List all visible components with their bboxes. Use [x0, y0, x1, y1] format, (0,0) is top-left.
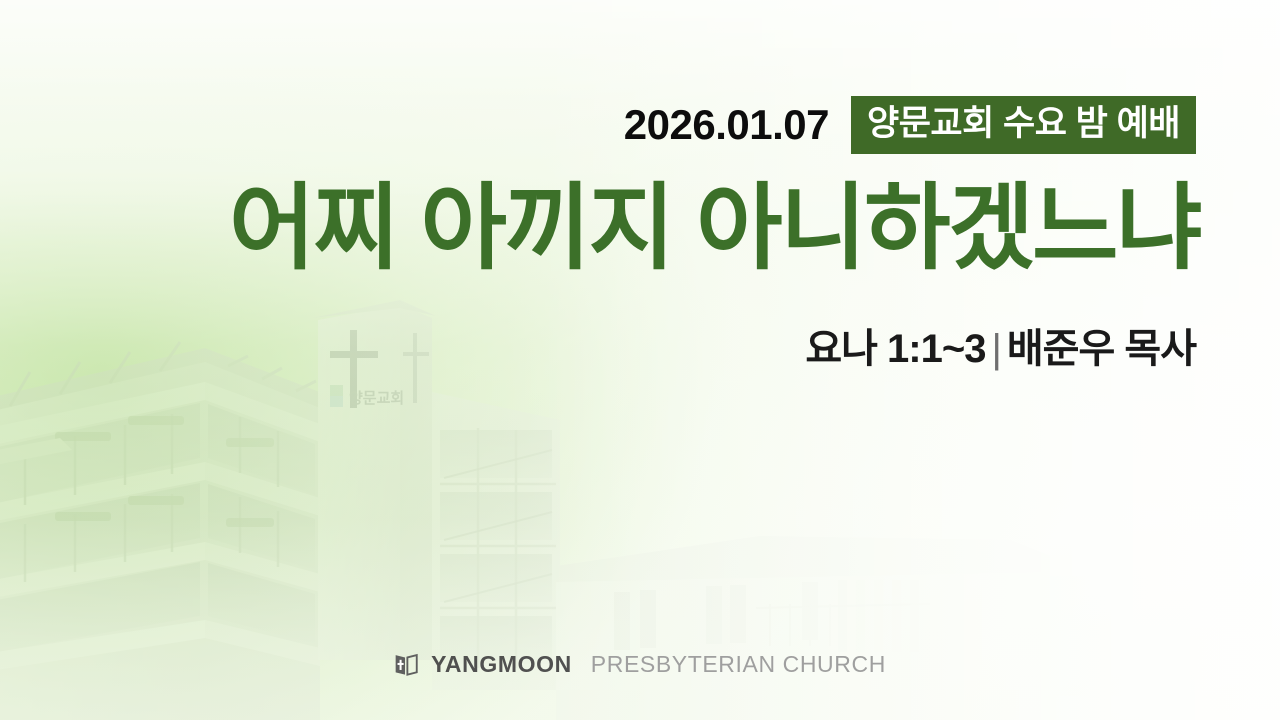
service-name-badge: 양문교회 수요 밤 예배 — [851, 96, 1196, 154]
service-date: 2026.01.07 — [624, 104, 829, 146]
open-bible-cross-icon — [394, 652, 419, 677]
preacher-name: 배준우 목사 — [1007, 327, 1196, 371]
church-name-bold: YANGMOON — [431, 651, 572, 678]
scripture-reference: 요나 1:1~3 — [805, 327, 985, 371]
sermon-title-slide: 양문교회 — [0, 0, 1280, 720]
scripture-separator: | — [985, 327, 1006, 371]
church-name-light: PRESBYTERIAN CHURCH — [591, 651, 886, 678]
scripture-preacher-line: 요나 1:1~3|배준우 목사 — [0, 325, 1196, 373]
sermon-title: 어찌 아끼지 아니하겠느냐 — [0, 176, 1200, 279]
church-logo: YANGMOON PRESBYTERIAN CHURCH — [394, 651, 886, 678]
header-row: 2026.01.07 양문교회 수요 밤 예배 — [0, 96, 1196, 154]
